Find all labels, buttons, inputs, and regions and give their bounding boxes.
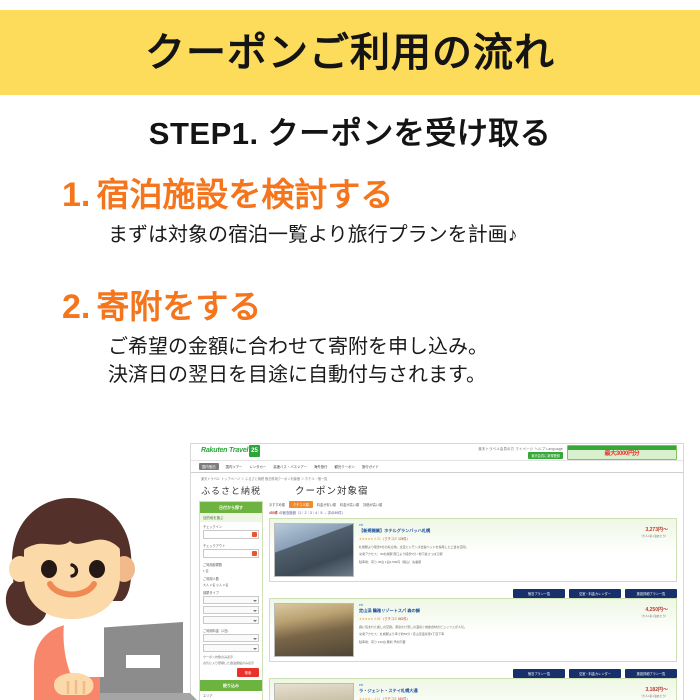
detail-plan-button[interactable]: 施設詳細プラン一覧: [625, 669, 677, 678]
screenshot-topbar: Rakuten Travel 25 楽天トラベル会員の方 マイページ へルプ L…: [191, 444, 683, 461]
listing-price-note: （大人1名1泊あたり）: [640, 613, 668, 618]
nav-item-4[interactable]: 海外旅行: [314, 464, 328, 469]
sidebar-title: 日付から探す: [200, 502, 262, 513]
result-pagination[interactable]: の宿泊施設（1｜2｜3｜4｜5 → 次の50件）: [279, 511, 345, 515]
step-1-line-1: まずは対象の宿泊一覧より旅行プランを計画♪: [108, 221, 662, 249]
listing-card[interactable]: PR 定山渓 鶴雅リゾートスパ 森の謌 ★★★★★ 4.58 （クチコミ 862…: [269, 598, 677, 662]
sort-tab-2[interactable]: 料金が安い順: [317, 502, 336, 507]
label-price: ご利用料金（1泊）: [200, 626, 262, 634]
checkin-date-input[interactable]: [203, 530, 259, 539]
eye-left: [41, 560, 57, 578]
listing-title[interactable]: ラ・ジェント・ステイ札幌大通: [359, 687, 672, 694]
page-title: クーポンご利用の流れ: [145, 33, 555, 73]
plan-list-button[interactable]: 宿泊プラン一覧: [513, 589, 565, 598]
label-checkout: チェックアウト: [200, 541, 262, 549]
step-2-body: ご希望の金額に合わせて寄附を申し込み。 決済日の翌日を目途に自動付与されます。: [108, 333, 662, 390]
listing-price-note: （大人1名1泊あたり）: [640, 693, 668, 698]
step-2-line-1: ご希望の金額に合わせて寄附を申し込み。: [108, 333, 662, 361]
anniversary-badge-icon: 25: [249, 445, 260, 457]
member-register-button[interactable]: 楽天会員に新規登録: [528, 452, 563, 459]
rating-stars: ★★★★★ 4.58: [359, 617, 380, 621]
listing-card[interactable]: PR 【新規開業】ホテルグランバッハ札幌 ★★★★★ 4.32 （クチコミ 12…: [269, 518, 677, 582]
inner-shirt: [63, 624, 104, 677]
listing-price-block: 3,182円～ （大人1名1泊あたり）: [640, 686, 668, 698]
nav-item-1[interactable]: 国内ツアー: [226, 464, 243, 469]
nav-item-6[interactable]: 旅行ガイド: [362, 464, 379, 469]
favorite-only-checkbox[interactable]: お気に入り登録した宿泊施設のみ表示: [200, 660, 262, 666]
label-checkin: チェックイン: [200, 522, 262, 530]
rakuten-travel-logo: Rakuten Travel: [201, 447, 248, 454]
listing-rating: ★★★★★ 4.58 （クチコミ 862件）: [359, 614, 672, 621]
global-nav[interactable]: 国内宿泊 国内ツアー レンタカー 高速バス・バスツアー 海外旅行 観光クーポン …: [191, 461, 683, 473]
availability-calendar-button[interactable]: 空室・料金カレンダー: [569, 589, 621, 598]
browser-screenshot: Rakuten Travel 25 楽天トラベル会員の方 マイページ へルプ L…: [190, 443, 684, 700]
step-1-body: まずは対象の宿泊一覧より旅行プランを計画♪: [108, 221, 662, 249]
listing-title[interactable]: 定山渓 鶴雅リゾートスパ 森の謌: [359, 607, 672, 614]
label-guests: ご利用人数: [200, 574, 262, 582]
step-2-title: 寄附をする: [96, 289, 261, 326]
listing-actions[interactable]: 宿泊プラン一覧 空室・料金カレンダー 施設詳細プラン一覧: [269, 586, 677, 598]
laptop-icon: [88, 622, 197, 700]
result-count-line: 453件 の宿泊施設（1｜2｜3｜4｜5 → 次の50件）: [269, 510, 677, 518]
nav-item-5[interactable]: 観光クーポン: [335, 464, 355, 469]
sort-tab-1[interactable]: クチコミ順: [289, 501, 313, 508]
listing-price-block: 4,250円～ （大人1名1泊あたり）: [640, 606, 668, 618]
hotel-thumbnail[interactable]: [274, 603, 354, 657]
sidebar-destination-checkbox[interactable]: 目的地を選ぶ: [200, 513, 262, 522]
review-count[interactable]: （クチコミ 128件）: [381, 537, 410, 541]
listing-access: 交通アクセス：JR札幌駅 南口より徒歩5分 / 地下鉄さっぽろ駅: [359, 549, 672, 557]
label-rooms: ご利用部屋数: [200, 560, 262, 568]
review-count[interactable]: （クチコミ 862件）: [381, 617, 410, 621]
refine-title: 絞り込み: [200, 680, 262, 691]
checkout-date-input[interactable]: [203, 549, 259, 558]
page-root: クーポンご利用の流れ STEP1. クーポンを受け取る 1. 宿泊施設を検討する…: [0, 0, 700, 700]
step-item-1: 1. 宿泊施設を検討する まずは対象の宿泊一覧より旅行プランを計画♪: [62, 176, 662, 249]
avatar: [0, 497, 200, 700]
nav-item-3[interactable]: 高速バス・バスツアー: [273, 464, 307, 469]
listing-rating: ★★★★★ 4.32 （クチコミ 128件）: [359, 534, 672, 541]
price-min-select[interactable]: [203, 634, 259, 642]
listing-description: 森に包まれた癒しの空間。源泉かけ流しの温泉と地産食材のビュッフェが人気。: [359, 621, 672, 629]
label-roomtype: 部屋タイプ: [200, 588, 262, 596]
sort-tabs[interactable]: おすすめ順 クチコミ順 料金が安い順 料金が高い順 評価が高い順: [269, 501, 677, 510]
result-count: 453件: [269, 511, 278, 515]
rating-stars: ★★★★★ 4.32: [359, 537, 380, 541]
search-sidebar: 日付から探す 目的地を選ぶ チェックイン チェックアウト ご利用部屋数 1 室 …: [199, 501, 263, 700]
detail-plan-button[interactable]: 施設詳細プラン一覧: [625, 589, 677, 598]
nav-item-2[interactable]: レンタカー: [249, 464, 266, 469]
coupon-page-title: クーポン対象宿: [295, 483, 369, 497]
results-column: おすすめ順 クチコミ順 料金が安い順 料金が高い順 評価が高い順 453件 の宿…: [269, 501, 683, 700]
sort-tab-0[interactable]: おすすめ順: [269, 502, 285, 507]
listing-access: 交通アクセス：札幌駅より車で約50分 / 定山渓温泉東2丁目下車: [359, 629, 672, 637]
listing-body: PR 定山渓 鶴雅リゾートスパ 森の謌 ★★★★★ 4.58 （クチコミ 862…: [354, 603, 672, 657]
sort-select[interactable]: [203, 616, 259, 624]
utility-links[interactable]: 楽天トラベル会員の方 マイページ へルプ Language: [478, 446, 563, 451]
step-heading: STEP1. クーポンを受け取る: [0, 108, 700, 153]
content-main: 日付から探す 目的地を選ぶ チェックイン チェックアウト ご利用部屋数 1 室 …: [191, 501, 683, 700]
listing-parking: 駐車場：有り 120台 無料 予約不要: [359, 637, 672, 645]
sort-tab-3[interactable]: 料金が高い順: [340, 502, 359, 507]
step-2-line-2: 決済日の翌日を目途に自動付与されます。: [108, 361, 662, 389]
furusato-label: ふるさと納税: [201, 484, 261, 497]
listing-description: 札幌駅より徒歩5分の好立地。全室にシモンズ社製ベッドを採用した上質な空間。: [359, 541, 672, 549]
step-1-number: 1.: [62, 176, 90, 214]
listing-title[interactable]: 【新規開業】ホテルグランバッハ札幌: [359, 527, 672, 534]
nav-item-0[interactable]: 国内宿泊: [199, 463, 219, 470]
listing-price-note: （大人1名1泊あたり）: [640, 533, 668, 538]
listing-rating: ★★★★☆ 4.11 （クチコミ 540件）: [359, 694, 672, 700]
sort-tab-4[interactable]: 評価が高い順: [363, 502, 382, 507]
step-1-title: 宿泊施設を検討する: [96, 177, 393, 214]
header-banner: クーポンご利用の流れ: [0, 10, 700, 95]
price-max-select[interactable]: [203, 644, 259, 652]
listing-price-block: 3,273円～ （大人1名1泊あたり）: [640, 526, 668, 538]
step-1-heading: 1. 宿泊施設を検討する: [62, 176, 662, 214]
step-2-heading: 2. 寄附をする: [62, 288, 662, 326]
availability-calendar-button[interactable]: 空室・料金カレンダー: [569, 669, 621, 678]
listing-card[interactable]: PR ラ・ジェント・ステイ札幌大通 ★★★★☆ 4.11 （クチコミ 540件）…: [269, 678, 677, 700]
promo-badge[interactable]: 最大3000円分: [567, 445, 677, 460]
search-button[interactable]: 検索: [237, 668, 259, 677]
breadcrumb[interactable]: 楽天トラベル トップページ ＞ ふるさと納税 宿泊専用クーポン対象宿 ＞ ホテル…: [191, 473, 683, 483]
listing-price: 3,182円～: [640, 686, 668, 693]
plan-list-button[interactable]: 宿泊プラン一覧: [513, 669, 565, 678]
listing-parking: 駐車場：有り 30台 1泊1,500円（税込）先着順: [359, 557, 672, 565]
promo-amount: 最大3000円分: [568, 450, 676, 459]
listing-actions[interactable]: 宿泊プラン一覧 空室・料金カレンダー 施設詳細プラン一覧: [269, 666, 677, 678]
step-item-2: 2. 寄附をする ご希望の金額に合わせて寄附を申し込み。 決済日の翌日を目途に自…: [62, 288, 662, 390]
listing-body: PR 【新規開業】ホテルグランバッハ札幌 ★★★★★ 4.32 （クチコミ 12…: [354, 523, 672, 577]
roomtype-select[interactable]: [203, 596, 259, 604]
listing-body: PR ラ・ジェント・ステイ札幌大通 ★★★★☆ 4.11 （クチコミ 540件）…: [354, 683, 672, 700]
mealtype-select[interactable]: [203, 606, 259, 614]
content-header: ふるさと納税 クーポン対象宿: [191, 483, 683, 501]
listing-price: 3,273円～: [640, 526, 668, 533]
hotel-thumbnail[interactable]: [274, 683, 354, 700]
hotel-thumbnail[interactable]: [274, 523, 354, 577]
step-2-number: 2.: [62, 288, 90, 326]
eye-right: [89, 560, 105, 578]
listing-price: 4,250円～: [640, 606, 668, 613]
refine-area-label: エリア: [200, 691, 262, 699]
